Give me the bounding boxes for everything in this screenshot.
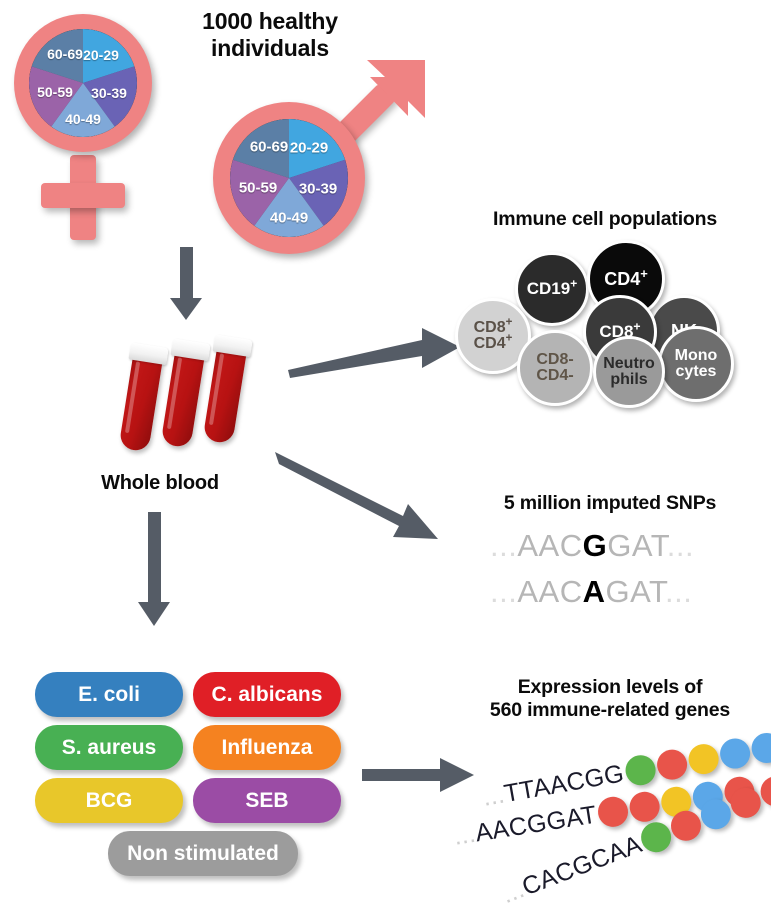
snps-title: 5 million imputed SNPs (450, 492, 770, 515)
snp-row-1-suffix: ... (667, 528, 694, 563)
cell-cd8neg-cd4neg-label: CD8-CD4- (536, 352, 573, 385)
cell-neutrophils: Neutrophils (593, 336, 665, 408)
whole-blood-tubes (110, 330, 270, 460)
male-age-label-30-39: 30-39 (299, 181, 337, 198)
dna-bead-1-2 (655, 747, 690, 782)
stimulus-seb[interactable]: SEB (193, 778, 341, 823)
female-symbol-cross (41, 183, 125, 208)
snp-row-1-left: AAC (517, 528, 582, 563)
immune-cell-cluster: CD19+ CD4+ NK CD8+ CD8+CD4+ CD8-CD4- Neu… (455, 240, 755, 415)
dna-bead-2-2 (628, 790, 662, 824)
dna-bead-1-1 (623, 753, 658, 788)
stimuli-panel: E. coli C. albicans S. aureus Influenza … (35, 672, 335, 902)
expression-title: Expression levels of 560 immune-related … (450, 676, 770, 722)
male-age-label-60-69: 60-69 (250, 139, 288, 156)
dna-bead-2-1 (596, 795, 630, 829)
snp-row-2-left: AAC (517, 574, 582, 609)
dna-strand-3-sequence: CACGCAA (518, 830, 645, 901)
female-age-label-20-29: 20-29 (83, 47, 119, 63)
female-age-label-30-39: 30-39 (91, 85, 127, 101)
snp-row-2-prefix: ... (490, 574, 517, 609)
snp-sequence-block: ...AACGGAT... ...AACAGAT... (490, 528, 740, 613)
cell-monocytes-label: Monocytes (675, 348, 718, 381)
expression-title-line2: 560 immune-related genes (450, 699, 770, 722)
whole-blood-label: Whole blood (60, 472, 260, 496)
stimulus-s-aureus[interactable]: S. aureus (35, 725, 183, 770)
male-symbol: 20-29 30-39 40-49 50-59 60-69 (205, 60, 420, 255)
stimulus-seb-label: SEB (245, 789, 288, 813)
dna-bead-1-3 (686, 742, 721, 777)
snp-row-1: ...AACGGAT... (490, 528, 694, 564)
stimulus-influenza[interactable]: Influenza (193, 725, 341, 770)
snp-row-2-variant: A (583, 574, 606, 609)
stimulus-influenza-label: Influenza (221, 736, 312, 760)
male-age-label-40-49: 40-49 (270, 210, 308, 227)
male-age-label-20-29: 20-29 (290, 140, 328, 157)
female-age-pie: 20-29 30-39 40-49 50-59 60-69 (29, 29, 137, 137)
stimulus-e-coli[interactable]: E. coli (35, 672, 183, 717)
stimulus-s-aureus-label: S. aureus (62, 736, 157, 760)
dna-bead-1-5 (749, 731, 771, 766)
dna-strand-2-text: ...AACGGAT (452, 800, 599, 851)
snp-row-1-right: GAT (607, 528, 667, 563)
cell-neutrophils-label: Neutrophils (603, 356, 655, 389)
snp-row-1-variant: G (583, 528, 608, 563)
cell-cd4-label: CD4+ (604, 270, 648, 288)
snp-row-2-right: GAT (605, 574, 665, 609)
stimulus-c-albicans-label: C. albicans (212, 683, 323, 707)
female-symbol: 20-29 30-39 40-49 50-59 60-69 (0, 0, 220, 250)
male-age-pie: 20-29 30-39 40-49 50-59 60-69 (230, 119, 348, 237)
immune-title: Immune cell populations (440, 208, 770, 231)
expression-title-line1: Expression levels of (450, 676, 770, 699)
stimulus-bcg[interactable]: BCG (35, 778, 183, 823)
snp-row-2: ...AACAGAT... (490, 574, 692, 610)
cell-cd8pos-cd4pos-label: CD8+CD4+ (474, 320, 513, 353)
stimulus-bcg-label: BCG (86, 789, 133, 813)
female-age-label-40-49: 40-49 (65, 111, 101, 127)
snp-row-2-suffix: ... (665, 574, 692, 609)
figure-canvas: 1000 healthy individuals 20-29 30-39 40-… (0, 0, 771, 922)
dna-bead-1-4 (718, 736, 753, 771)
stimulus-c-albicans[interactable]: C. albicans (193, 672, 341, 717)
female-age-label-60-69: 60-69 (47, 46, 83, 62)
cell-cd8neg-cd4neg: CD8-CD4- (517, 330, 593, 406)
stimulus-e-coli-label: E. coli (78, 683, 140, 707)
stimulus-non-stimulated-label: Non stimulated (127, 842, 279, 866)
cell-cd19-label: CD19+ (527, 280, 578, 297)
stimulus-non-stimulated[interactable]: Non stimulated (108, 831, 298, 876)
cell-monocytes: Monocytes (658, 326, 734, 402)
female-age-label-50-59: 50-59 (37, 84, 73, 100)
snp-row-1-prefix: ... (490, 528, 517, 563)
male-age-label-50-59: 50-59 (239, 180, 277, 197)
cell-cd19: CD19+ (515, 252, 589, 326)
dna-strand-block: ...TTAACGG ...AACGGAT ...CACGCAA (450, 740, 771, 915)
